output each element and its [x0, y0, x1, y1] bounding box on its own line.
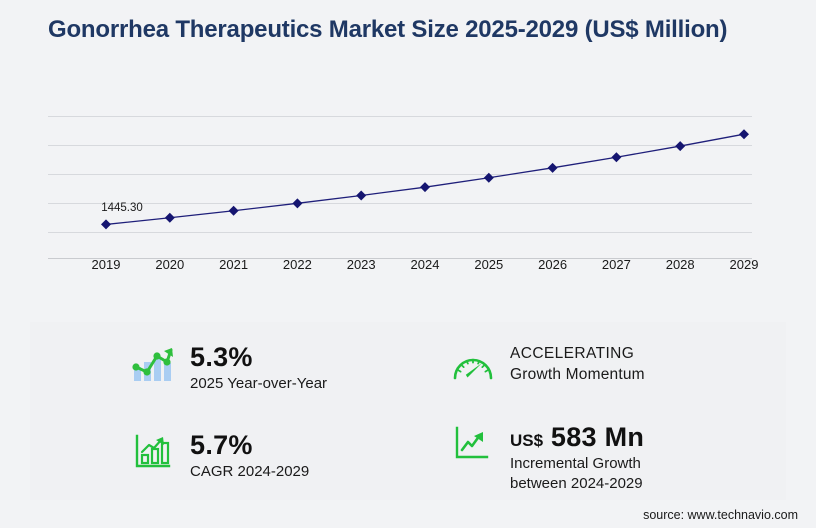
stat-value: 5.7% [190, 430, 309, 460]
x-axis-tick-label: 2019 [92, 257, 121, 272]
stat-value: US$ 583 Mn [510, 422, 644, 452]
data-point-marker [611, 152, 621, 162]
data-point-label: 1445.30 [101, 202, 143, 214]
stat-growth-momentum: ACCELERATING Growth Momentum [450, 344, 645, 388]
stat-label-line1: ACCELERATING [510, 344, 645, 365]
x-axis-tick-label: 2021 [219, 257, 248, 272]
x-axis-tick-label: 2020 [155, 257, 184, 272]
x-axis-tick-label: 2029 [730, 257, 759, 272]
stat-incremental-growth: US$ 583 Mn Incremental Growth between 20… [450, 422, 644, 494]
x-axis-tick-label: 2028 [666, 257, 695, 272]
x-axis-labels: 2019202020212022202320242025202620272028… [48, 257, 752, 281]
plot-area: 1445.30 [48, 100, 752, 260]
data-point-marker [101, 219, 111, 229]
stat-text: 5.7% CAGR 2024-2029 [190, 430, 309, 482]
bar-line-growth-icon [130, 342, 176, 386]
data-series [48, 100, 752, 260]
stat-year-over-year: 5.3% 2025 Year-over-Year [130, 342, 327, 394]
infographic-page: Gonorrhea Therapeutics Market Size 2025-… [0, 0, 816, 528]
data-point-marker [420, 182, 430, 192]
data-point-marker [292, 198, 302, 208]
x-axis-tick-label: 2025 [474, 257, 503, 272]
stat-amount: 583 Mn [551, 422, 644, 452]
line-chart: 1445.30 20192020202120222023202420252026… [0, 92, 816, 287]
trend-arrow-icon [450, 422, 496, 466]
data-point-marker [548, 163, 558, 173]
x-axis-tick-label: 2027 [602, 257, 631, 272]
data-point-marker [356, 190, 366, 200]
stat-value: 5.3% [190, 342, 327, 372]
speedometer-icon [450, 344, 496, 388]
x-axis-tick-label: 2023 [347, 257, 376, 272]
stat-text: ACCELERATING Growth Momentum [510, 344, 645, 386]
x-axis-tick-label: 2022 [283, 257, 312, 272]
stat-unit: US$ [510, 431, 543, 450]
stat-caption: Incremental Growth between 2024-2029 [510, 454, 644, 494]
page-title: Gonorrhea Therapeutics Market Size 2025-… [48, 16, 748, 44]
x-axis-tick-label: 2026 [538, 257, 567, 272]
data-point-marker [484, 173, 494, 183]
bar-chart-arrow-icon [130, 430, 176, 474]
stat-label-line2: Growth Momentum [510, 365, 645, 386]
stat-text: US$ 583 Mn Incremental Growth between 20… [510, 422, 644, 494]
stats-panel: 5.3% 2025 Year-over-Year 5.7% CAGR 2024-… [30, 322, 786, 500]
x-axis-tick-label: 2024 [411, 257, 440, 272]
data-point-marker [229, 206, 239, 216]
data-point-marker [675, 141, 685, 151]
data-point-marker [165, 213, 175, 223]
stat-caption: CAGR 2024-2029 [190, 462, 309, 482]
stat-caption: 2025 Year-over-Year [190, 374, 327, 394]
stat-cagr: 5.7% CAGR 2024-2029 [130, 430, 309, 482]
series-line [106, 134, 744, 224]
source-note: source: www.technavio.com [643, 508, 798, 522]
data-point-marker [739, 129, 749, 139]
stat-text: 5.3% 2025 Year-over-Year [190, 342, 327, 394]
